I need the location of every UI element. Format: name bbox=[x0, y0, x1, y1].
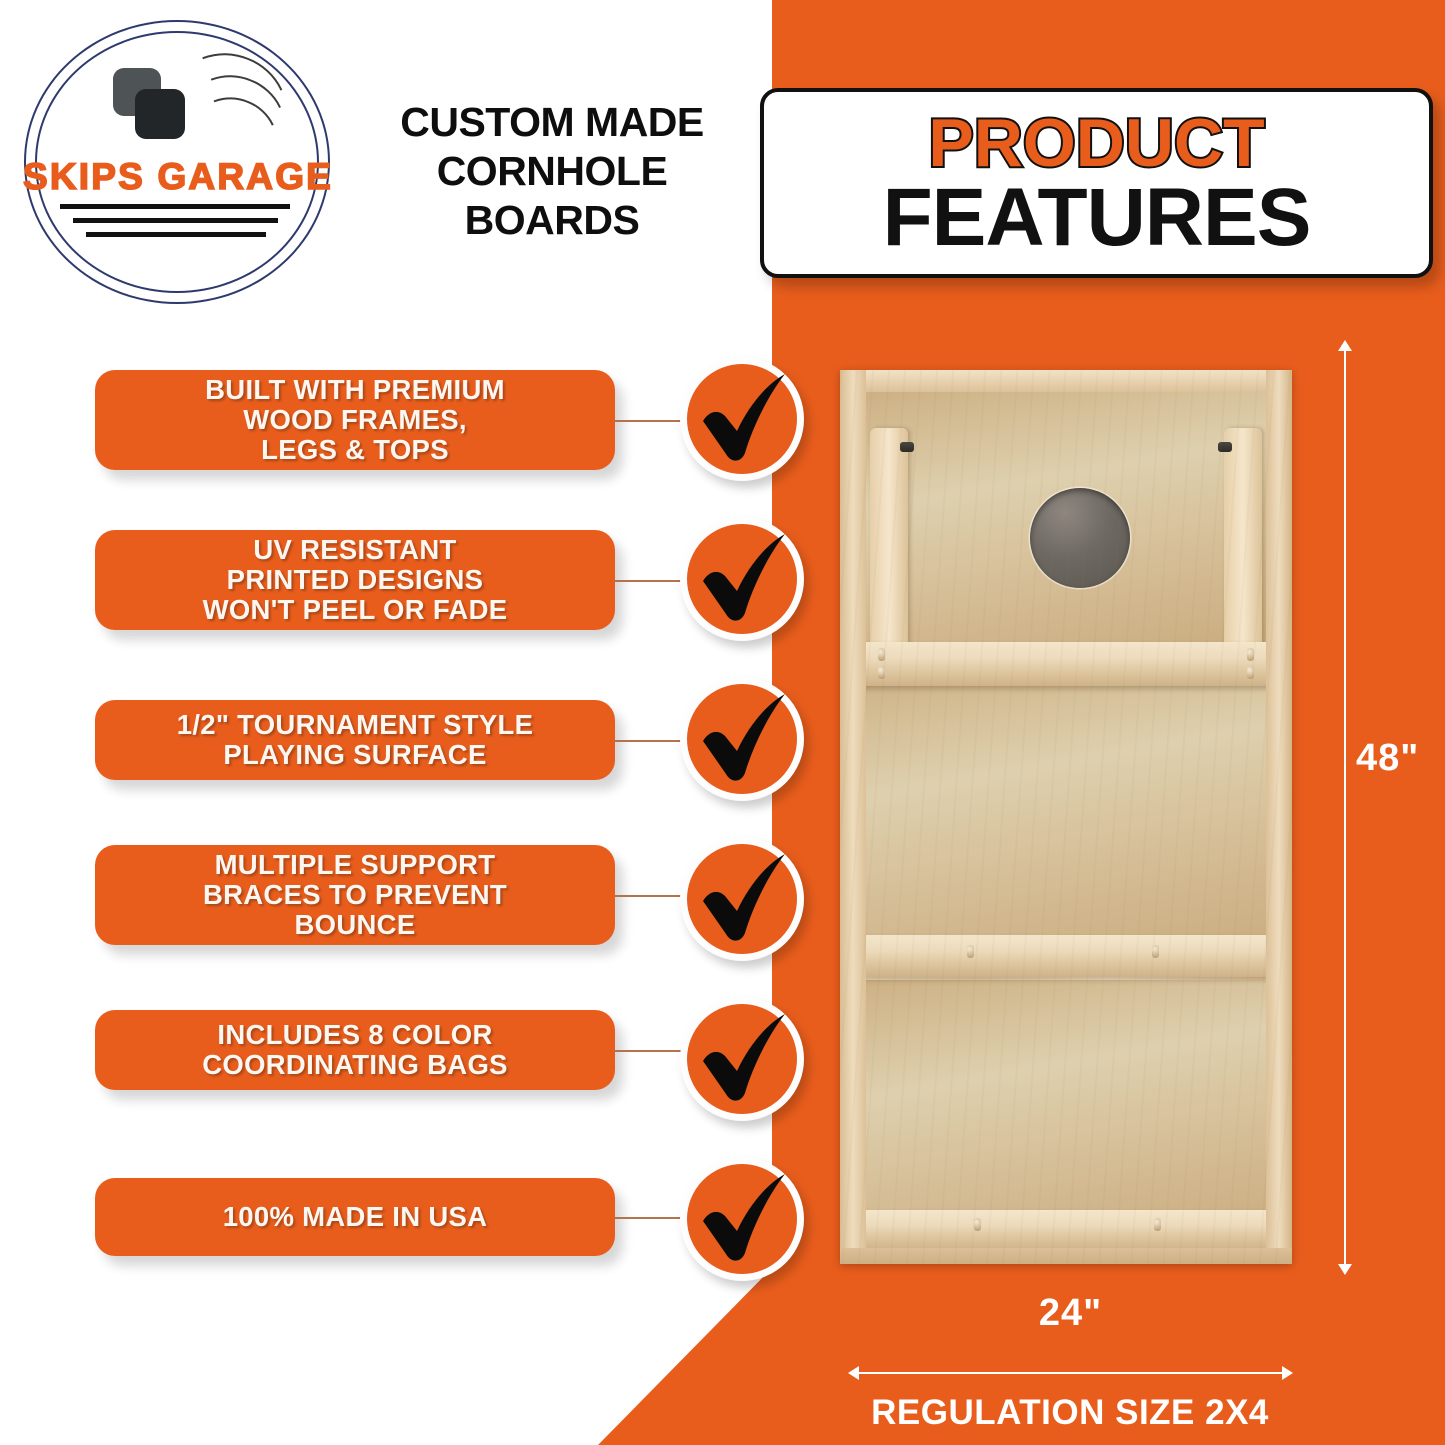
screw bbox=[1247, 648, 1254, 661]
screw bbox=[974, 1218, 981, 1231]
feature-check-badge-4 bbox=[680, 837, 804, 961]
infographic-canvas: SKIPS GARAGE CUSTOM MADE CORNHOLE BOARDS… bbox=[0, 0, 1445, 1445]
feature-row: 1/2" TOURNAMENT STYLEPLAYING SURFACE bbox=[0, 688, 830, 848]
support-brace-upper bbox=[862, 642, 1270, 686]
badge-line-product: PRODUCT bbox=[928, 108, 1264, 178]
board-bottom-rail bbox=[840, 1248, 1292, 1264]
screw bbox=[1154, 1218, 1161, 1231]
width-dimension-label: 24" bbox=[858, 1292, 1283, 1335]
checkmark-icon bbox=[687, 524, 797, 634]
support-brace-lower bbox=[862, 935, 1270, 977]
feature-text-line: INCLUDES 8 COLOR bbox=[202, 1020, 508, 1050]
regulation-size-label: REGULATION SIZE 2X4 bbox=[830, 1393, 1310, 1433]
height-dimension-arrow bbox=[1344, 350, 1346, 1265]
feature-check-badge-2 bbox=[680, 517, 804, 641]
checkmark-icon bbox=[687, 1004, 797, 1114]
logo-wordmark: SKIPS GARAGE bbox=[18, 156, 338, 198]
page-title: CUSTOM MADE CORNHOLE BOARDS bbox=[352, 98, 752, 245]
screw bbox=[878, 648, 885, 661]
feature-pill-5[interactable]: INCLUDES 8 COLORCOORDINATING BAGS bbox=[95, 1010, 615, 1090]
feature-row: BUILT WITH PREMIUMWOOD FRAMES,LEGS & TOP… bbox=[0, 368, 830, 528]
checkmark-icon bbox=[687, 1164, 797, 1274]
cornhole-board-image bbox=[840, 370, 1292, 1264]
feature-row: INCLUDES 8 COLORCOORDINATING BAGS bbox=[0, 1000, 830, 1160]
feature-row: UV RESISTANTPRINTED DESIGNSWON'T PEEL OR… bbox=[0, 528, 830, 688]
feature-text-line: 100% MADE IN USA bbox=[223, 1202, 488, 1232]
feature-text-line: UV RESISTANT bbox=[203, 535, 508, 565]
feature-text-line: COORDINATING BAGS bbox=[202, 1050, 508, 1080]
feature-pill-label: BUILT WITH PREMIUMWOOD FRAMES,LEGS & TOP… bbox=[205, 375, 505, 465]
feature-check-badge-3 bbox=[680, 677, 804, 801]
screw bbox=[878, 666, 885, 679]
logo-rule bbox=[60, 204, 290, 209]
logo-rule bbox=[73, 218, 278, 223]
screw bbox=[967, 945, 974, 958]
folding-leg-right bbox=[1224, 428, 1262, 650]
feature-check-badge-5 bbox=[680, 997, 804, 1121]
page-title-line-3: BOARDS bbox=[352, 196, 752, 245]
feature-text-line: MULTIPLE SUPPORT bbox=[203, 850, 507, 880]
feature-text-line: PLAYING SURFACE bbox=[177, 740, 534, 770]
cornhole-hole bbox=[1030, 488, 1130, 588]
feature-text-line: BRACES TO PREVENT bbox=[203, 880, 507, 910]
checkmark-icon bbox=[687, 684, 797, 794]
feature-row: MULTIPLE SUPPORTBRACES TO PREVENTBOUNCE bbox=[0, 842, 830, 1002]
board-cavity-middle bbox=[866, 670, 1266, 962]
page-title-line-1: CUSTOM MADE bbox=[352, 98, 752, 147]
badge-line-features: FEATURES bbox=[883, 178, 1311, 258]
feature-row: 100% MADE IN USA bbox=[0, 1162, 830, 1322]
feature-text-line: WOOD FRAMES, bbox=[205, 405, 505, 435]
checkmark-icon bbox=[687, 844, 797, 954]
support-brace-bottom bbox=[862, 1210, 1270, 1250]
height-dimension-label: 48" bbox=[1356, 737, 1419, 780]
feature-text-line: PRINTED DESIGNS bbox=[203, 565, 508, 595]
feature-pill-6[interactable]: 100% MADE IN USA bbox=[95, 1178, 615, 1256]
brand-logo: SKIPS GARAGE bbox=[18, 16, 338, 306]
feature-text-line: WON'T PEEL OR FADE bbox=[203, 595, 508, 625]
feature-pill-4[interactable]: MULTIPLE SUPPORTBRACES TO PREVENTBOUNCE bbox=[95, 845, 615, 945]
feature-pill-2[interactable]: UV RESISTANTPRINTED DESIGNSWON'T PEEL OR… bbox=[95, 530, 615, 630]
width-dimension-arrow bbox=[858, 1372, 1283, 1374]
feature-text-line: BOUNCE bbox=[203, 910, 507, 940]
feature-pill-label: 1/2" TOURNAMENT STYLEPLAYING SURFACE bbox=[177, 710, 534, 770]
feature-text-line: BUILT WITH PREMIUM bbox=[205, 375, 505, 405]
page-title-line-2: CORNHOLE bbox=[352, 147, 752, 196]
screw bbox=[1152, 945, 1159, 958]
feature-text-line: LEGS & TOPS bbox=[205, 435, 505, 465]
folding-leg-left bbox=[870, 428, 908, 650]
board-right-rail bbox=[1266, 370, 1292, 1264]
feature-pill-3[interactable]: 1/2" TOURNAMENT STYLEPLAYING SURFACE bbox=[95, 700, 615, 780]
feature-check-badge-6 bbox=[680, 1157, 804, 1281]
feature-check-badge-1 bbox=[680, 357, 804, 481]
screw bbox=[1247, 666, 1254, 679]
checkmark-icon bbox=[687, 364, 797, 474]
board-cavity-bottom bbox=[866, 980, 1266, 1248]
board-left-rail bbox=[840, 370, 866, 1264]
board-top-rail bbox=[840, 370, 1292, 392]
leg-bolt bbox=[1218, 442, 1232, 452]
feature-pill-label: 100% MADE IN USA bbox=[223, 1202, 488, 1232]
feature-pill-label: INCLUDES 8 COLORCOORDINATING BAGS bbox=[202, 1020, 508, 1080]
product-features-badge: PRODUCT FEATURES bbox=[760, 88, 1433, 278]
feature-pill-label: MULTIPLE SUPPORTBRACES TO PREVENTBOUNCE bbox=[203, 850, 507, 940]
logo-rule bbox=[86, 232, 266, 237]
feature-pill-label: UV RESISTANTPRINTED DESIGNSWON'T PEEL OR… bbox=[203, 535, 508, 625]
feature-text-line: 1/2" TOURNAMENT STYLE bbox=[177, 710, 534, 740]
leg-bolt bbox=[900, 442, 914, 452]
feature-pill-1[interactable]: BUILT WITH PREMIUMWOOD FRAMES,LEGS & TOP… bbox=[95, 370, 615, 470]
